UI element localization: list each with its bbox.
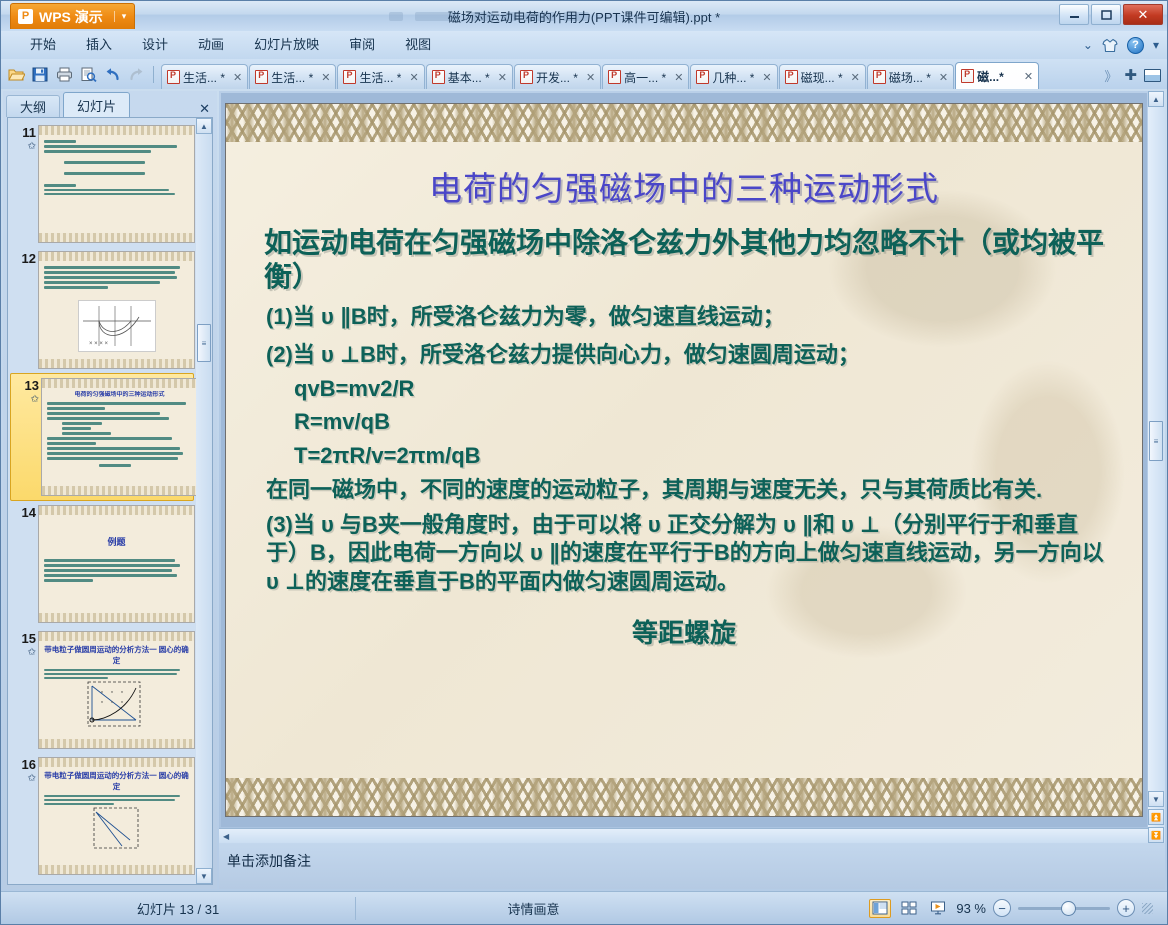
thumb-band-top: [39, 632, 194, 641]
thumb-band-bottom: [39, 865, 194, 874]
thumbnail-pane: 11 ✩: [7, 117, 213, 885]
thumb-band-top: [42, 379, 196, 388]
zoom-out-button[interactable]: −: [993, 899, 1011, 917]
thumb-body: × × × ×: [44, 264, 189, 356]
scroll-down-icon[interactable]: ▼: [196, 868, 212, 884]
redo-icon[interactable]: [125, 63, 147, 85]
animation-star-icon: ✩: [13, 394, 39, 406]
scroll-up-icon[interactable]: ▲: [196, 118, 212, 134]
slide-title[interactable]: 电荷的匀强磁场中的三种运动形式: [260, 162, 1108, 210]
doc-tab-label: 生活... *: [359, 69, 401, 86]
doc-tab-label: 磁现... *: [801, 69, 843, 86]
slide-subtitle[interactable]: 如运动电荷在匀强磁场中除洛仑兹力外其他力均忽略不计（或均被平衡）: [264, 226, 1108, 294]
thumbnail-item[interactable]: 14 例题: [8, 501, 196, 627]
doc-tab-6[interactable]: 高一... * ✕: [602, 64, 689, 89]
close-icon[interactable]: ✕: [228, 71, 242, 84]
slide-content: 电荷的匀强磁场中的三种运动形式 如运动电荷在匀强磁场中除洛仑兹力外其他力均忽略不…: [226, 142, 1142, 778]
doc-tab-8[interactable]: 磁现... * ✕: [779, 64, 866, 89]
slide-number-label: 13: [25, 378, 39, 393]
status-bar: 幻灯片 13 / 31 诗情画意: [1, 891, 1167, 924]
scrollbar-thumb[interactable]: ≡: [197, 324, 211, 362]
thumb-band-bottom: [42, 486, 196, 495]
ppt-file-icon: [696, 70, 709, 84]
animation-star-icon: ✩: [10, 773, 36, 785]
document-tab-strip: 生活... * ✕ 生活... * ✕ 生活... * ✕ 基本... * ✕ …: [161, 61, 1109, 89]
title-bar: 磁场对运动电荷的作用力(PPT课件可编辑).ppt * P WPS 演示 ▾ ✕: [1, 1, 1167, 31]
doc-tab-5[interactable]: 开发... * ✕: [514, 64, 601, 89]
slide-equation-3[interactable]: T=2πR/v=2πm/qB: [294, 442, 1108, 471]
thumb-body: 带电粒子做圆周运动的分析方法一 圆心的确定: [44, 770, 189, 862]
close-icon[interactable]: ✕: [846, 71, 860, 84]
thumbnail-item[interactable]: 15 ✩ 带电粒子做圆周运动的分析方法一 圆心的确定: [8, 627, 196, 753]
help-icon[interactable]: ?: [1127, 37, 1144, 54]
doc-tab-1[interactable]: 生活... * ✕: [161, 64, 248, 89]
slide-position-indicator: 幻灯片 13 / 31: [1, 897, 356, 920]
tab-slides[interactable]: 幻灯片: [63, 92, 130, 117]
slide-canvas-area[interactable]: 电荷的匀强磁场中的三种运动形式 如运动电荷在匀强磁场中除洛仑兹力外其他力均忽略不…: [221, 93, 1147, 827]
close-panel-icon[interactable]: ✕: [199, 101, 210, 117]
zoom-in-button[interactable]: +: [1117, 899, 1135, 917]
slide-border-bottom: [226, 778, 1142, 816]
ppt-file-icon: [520, 70, 533, 84]
slide-navigator-panel: 大纲 幻灯片 ✕ 11 ✩: [3, 91, 217, 889]
slide-number-label: 16: [22, 757, 36, 772]
thumb-band-top: [39, 506, 194, 515]
slide-number: 15 ✩: [10, 631, 36, 658]
doc-tab-7[interactable]: 几种... * ✕: [690, 64, 777, 89]
slide-footer-text[interactable]: 等距螺旋: [260, 613, 1108, 650]
thumb-figure: [78, 806, 156, 858]
doc-tab-9[interactable]: 磁场... * ✕: [867, 64, 954, 89]
slide-bullet-1[interactable]: (1)当 υ ∥B时，所受洛仑兹力为零，做匀速直线运动；: [266, 303, 1108, 332]
slide-number-label: 12: [22, 251, 36, 266]
scroll-down-icon[interactable]: ▼: [1148, 791, 1164, 807]
toolbar-and-tabs: 生活... * ✕ 生活... * ✕ 生活... * ✕ 基本... * ✕ …: [1, 59, 1167, 89]
app-badge[interactable]: P WPS 演示 ▾: [10, 3, 135, 29]
menu-start[interactable]: 开始: [15, 31, 71, 59]
tab-outline[interactable]: 大纲: [6, 95, 60, 117]
slide-number: 16 ✩: [10, 757, 36, 784]
doc-tab-10-active[interactable]: 磁...* ✕: [955, 62, 1039, 89]
thumb-title: 电荷的匀强磁场中的三种运动形式: [47, 391, 192, 400]
thumb-band-bottom: [39, 739, 194, 748]
zoom-slider-knob[interactable]: [1061, 901, 1076, 916]
slide-equation-2[interactable]: R=mv/qB: [294, 408, 1108, 437]
menu-insert[interactable]: 插入: [71, 31, 127, 59]
new-tab-icon[interactable]: ✚: [1124, 66, 1137, 84]
slide-horizontal-scrollbar[interactable]: ◀: [219, 828, 1148, 843]
notes-pane[interactable]: 单击添加备注: [219, 843, 1165, 889]
animation-star-icon: ✩: [10, 647, 36, 659]
thumb-body: 例题: [44, 518, 189, 610]
thumbnail-item[interactable]: 11 ✩: [8, 121, 196, 247]
status-right-controls: 93 % − +: [869, 899, 1167, 918]
thumb-title: 带电粒子做圆周运动的分析方法一 圆心的确定: [44, 644, 189, 667]
ppt-file-icon: [785, 70, 798, 84]
current-slide[interactable]: 电荷的匀强磁场中的三种运动形式 如运动电荷在匀强磁场中除洛仑兹力外其他力均忽略不…: [225, 103, 1143, 817]
close-icon[interactable]: ✕: [757, 71, 771, 84]
slide-paragraph-1[interactable]: 在同一磁场中，不同的速度的运动粒子，其周期与速度无关，只与其荷质比有关.: [266, 476, 1108, 505]
doc-tab-4[interactable]: 基本... * ✕: [426, 64, 513, 89]
close-icon[interactable]: ✕: [493, 71, 507, 84]
toolbar-separator: [153, 66, 154, 83]
close-icon[interactable]: ✕: [316, 71, 330, 84]
slide-number: 13 ✩: [13, 378, 39, 405]
print-preview-icon[interactable]: [77, 63, 99, 85]
menu-slideshow[interactable]: 幻灯片放映: [239, 31, 334, 59]
menu-view[interactable]: 视图: [390, 31, 446, 59]
doc-tab-label: 几种... *: [712, 69, 754, 86]
ppt-file-icon: [873, 70, 886, 84]
animation-star-icon: ✩: [10, 141, 36, 153]
thumbnail-item-selected[interactable]: 13 ✩ 电荷的匀强磁场中的三种运动形式: [10, 373, 194, 501]
ppt-file-icon: [961, 69, 974, 83]
open-icon[interactable]: [5, 63, 27, 85]
next-slide-icon[interactable]: ⏬: [1148, 827, 1164, 843]
thumb-band-top: [39, 252, 194, 261]
menu-review[interactable]: 审阅: [334, 31, 390, 59]
thumb-band-top: [39, 126, 194, 135]
maximize-button[interactable]: [1091, 4, 1121, 25]
slide-vertical-scrollbar[interactable]: ▲ ≡ ▼ ⏫ ⏬: [1148, 91, 1165, 843]
slide-number-label: 14: [22, 505, 36, 520]
thumb-title: 例题: [44, 536, 189, 550]
slide-thumbnail[interactable]: 带电粒子做圆周运动的分析方法一 圆心的确定: [38, 757, 195, 875]
slide-thumbnail[interactable]: 电荷的匀强磁场中的三种运动形式: [41, 378, 196, 496]
doc-tab-label: 生活... *: [271, 69, 313, 86]
wps-presentation-window: 磁场对运动电荷的作用力(PPT课件可编辑).ppt * P WPS 演示 ▾ ✕…: [0, 0, 1168, 925]
thumb-band-bottom: [39, 359, 194, 368]
close-icon[interactable]: ✕: [669, 71, 683, 84]
ppt-file-icon: [608, 70, 621, 84]
slide-number: 11 ✩: [10, 125, 36, 152]
thumbnail-list[interactable]: 11 ✩: [8, 118, 196, 884]
menu-items: 开始 插入 设计 动画 幻灯片放映 审阅 视图: [15, 31, 446, 59]
theme-name: 诗情画意: [356, 897, 711, 920]
navigator-tabs: 大纲 幻灯片 ✕: [3, 91, 217, 117]
dropdown-icon[interactable]: ▾: [1153, 38, 1159, 52]
thumb-band-bottom: [39, 233, 194, 242]
thumb-body: 带电粒子做圆周运动的分析方法一 圆心的确定: [44, 644, 189, 736]
slide-thumbnail[interactable]: 例题: [38, 505, 195, 623]
shirt-skin-icon[interactable]: [1102, 38, 1118, 53]
undo-icon[interactable]: [101, 63, 123, 85]
slide-number: 12: [10, 251, 36, 267]
thumbnail-item[interactable]: 12: [8, 247, 196, 373]
doc-tab-label: 高一... *: [624, 69, 666, 86]
svg-text:× × × ×: × × × ×: [89, 341, 109, 347]
ppt-file-icon: [432, 70, 445, 84]
scroll-left-icon[interactable]: ◀: [219, 832, 229, 841]
chevron-down-icon[interactable]: ⌄: [1083, 38, 1093, 52]
thumb-figure: × × × ×: [78, 300, 156, 352]
menu-bar: 开始 插入 设计 动画 幻灯片放映 审阅 视图 ⌄ ? ▾: [1, 31, 1167, 59]
close-button[interactable]: ✕: [1123, 4, 1163, 25]
doc-tab-label: 生活... *: [183, 69, 225, 86]
wps-logo-icon: P: [18, 9, 33, 24]
close-icon[interactable]: ✕: [934, 71, 948, 84]
window-list-icon[interactable]: [1144, 69, 1161, 82]
tab-strip-controls: 》 ✚: [1104, 63, 1161, 87]
print-icon[interactable]: [53, 63, 75, 85]
resize-grip-icon[interactable]: [1142, 903, 1153, 914]
slide-thumbnail[interactable]: × × × ×: [38, 251, 195, 369]
slide-thumbnail[interactable]: 带电粒子做圆周运动的分析方法一 圆心的确定: [38, 631, 195, 749]
close-icon[interactable]: ✕: [404, 71, 418, 84]
doc-tab-label: 开发... *: [536, 69, 578, 86]
slide-paragraph-2[interactable]: (3)当 υ 与B夹一般角度时，由于可以将 υ 正交分解为 υ ∥和 υ ⊥（分…: [266, 511, 1108, 597]
thumb-band-bottom: [39, 613, 194, 622]
ppt-file-icon: [343, 70, 356, 84]
normal-view-icon[interactable]: [869, 899, 891, 918]
slide-bullet-2[interactable]: (2)当 υ ⊥B时，所受洛仑兹力提供向心力，做匀速圆周运动；: [266, 341, 1108, 370]
scrollbar-thumb[interactable]: ≡: [1149, 421, 1163, 461]
close-icon[interactable]: ✕: [1019, 70, 1033, 83]
thumbnail-scrollbar[interactable]: ▲ ≡ ▼: [196, 118, 212, 884]
ppt-file-icon: [167, 70, 180, 84]
notes-placeholder: 单击添加备注: [227, 853, 311, 869]
doc-tab-2[interactable]: 生活... * ✕: [249, 64, 336, 89]
thumbnail-item[interactable]: 16 ✩ 带电粒子做圆周运动的分析方法一 圆心的确定: [8, 753, 196, 879]
doc-tab-label: 磁场... *: [889, 69, 931, 86]
thumb-body: [44, 138, 189, 230]
menu-animation[interactable]: 动画: [183, 31, 239, 59]
slideshow-icon[interactable]: [927, 899, 949, 918]
minimize-button[interactable]: [1059, 4, 1089, 25]
window-controls: ✕: [1059, 4, 1163, 25]
doc-tab-3[interactable]: 生活... * ✕: [337, 64, 424, 89]
tab-overflow-icon[interactable]: 》: [1104, 66, 1117, 85]
thumb-figure: [78, 680, 156, 732]
menu-design[interactable]: 设计: [127, 31, 183, 59]
doc-tab-label: 磁...*: [977, 68, 1004, 85]
slide-number-label: 15: [22, 631, 36, 646]
thumb-title: 带电粒子做圆周运动的分析方法一 圆心的确定: [44, 770, 189, 793]
thumb-band-top: [39, 758, 194, 767]
slide-border-top: [226, 104, 1142, 142]
menu-right-controls: ⌄ ? ▾: [1083, 31, 1159, 59]
chevron-down-icon[interactable]: ▾: [114, 11, 127, 22]
slide-equation-1[interactable]: qvB=mv2/R: [294, 375, 1108, 404]
save-icon[interactable]: [29, 63, 51, 85]
slide-number: 14: [10, 505, 36, 521]
slide-number-label: 11: [22, 125, 36, 140]
slide-sorter-icon[interactable]: [898, 899, 920, 918]
zoom-slider[interactable]: [1018, 907, 1110, 910]
ppt-file-icon: [255, 70, 268, 84]
close-icon[interactable]: ✕: [581, 71, 595, 84]
slide-editing-stage: 电荷的匀强磁场中的三种运动形式 如运动电荷在匀强磁场中除洛仑兹力外其他力均忽略不…: [219, 91, 1165, 889]
scroll-up-icon[interactable]: ▲: [1148, 91, 1164, 107]
slide-thumbnail[interactable]: [38, 125, 195, 243]
previous-slide-icon[interactable]: ⏫: [1148, 809, 1164, 825]
zoom-level-label: 93 %: [956, 901, 986, 916]
doc-tab-label: 基本... *: [448, 69, 490, 86]
thumb-body: 电荷的匀强磁场中的三种运动形式: [47, 391, 192, 483]
app-badge-label: WPS 演示: [39, 7, 103, 27]
